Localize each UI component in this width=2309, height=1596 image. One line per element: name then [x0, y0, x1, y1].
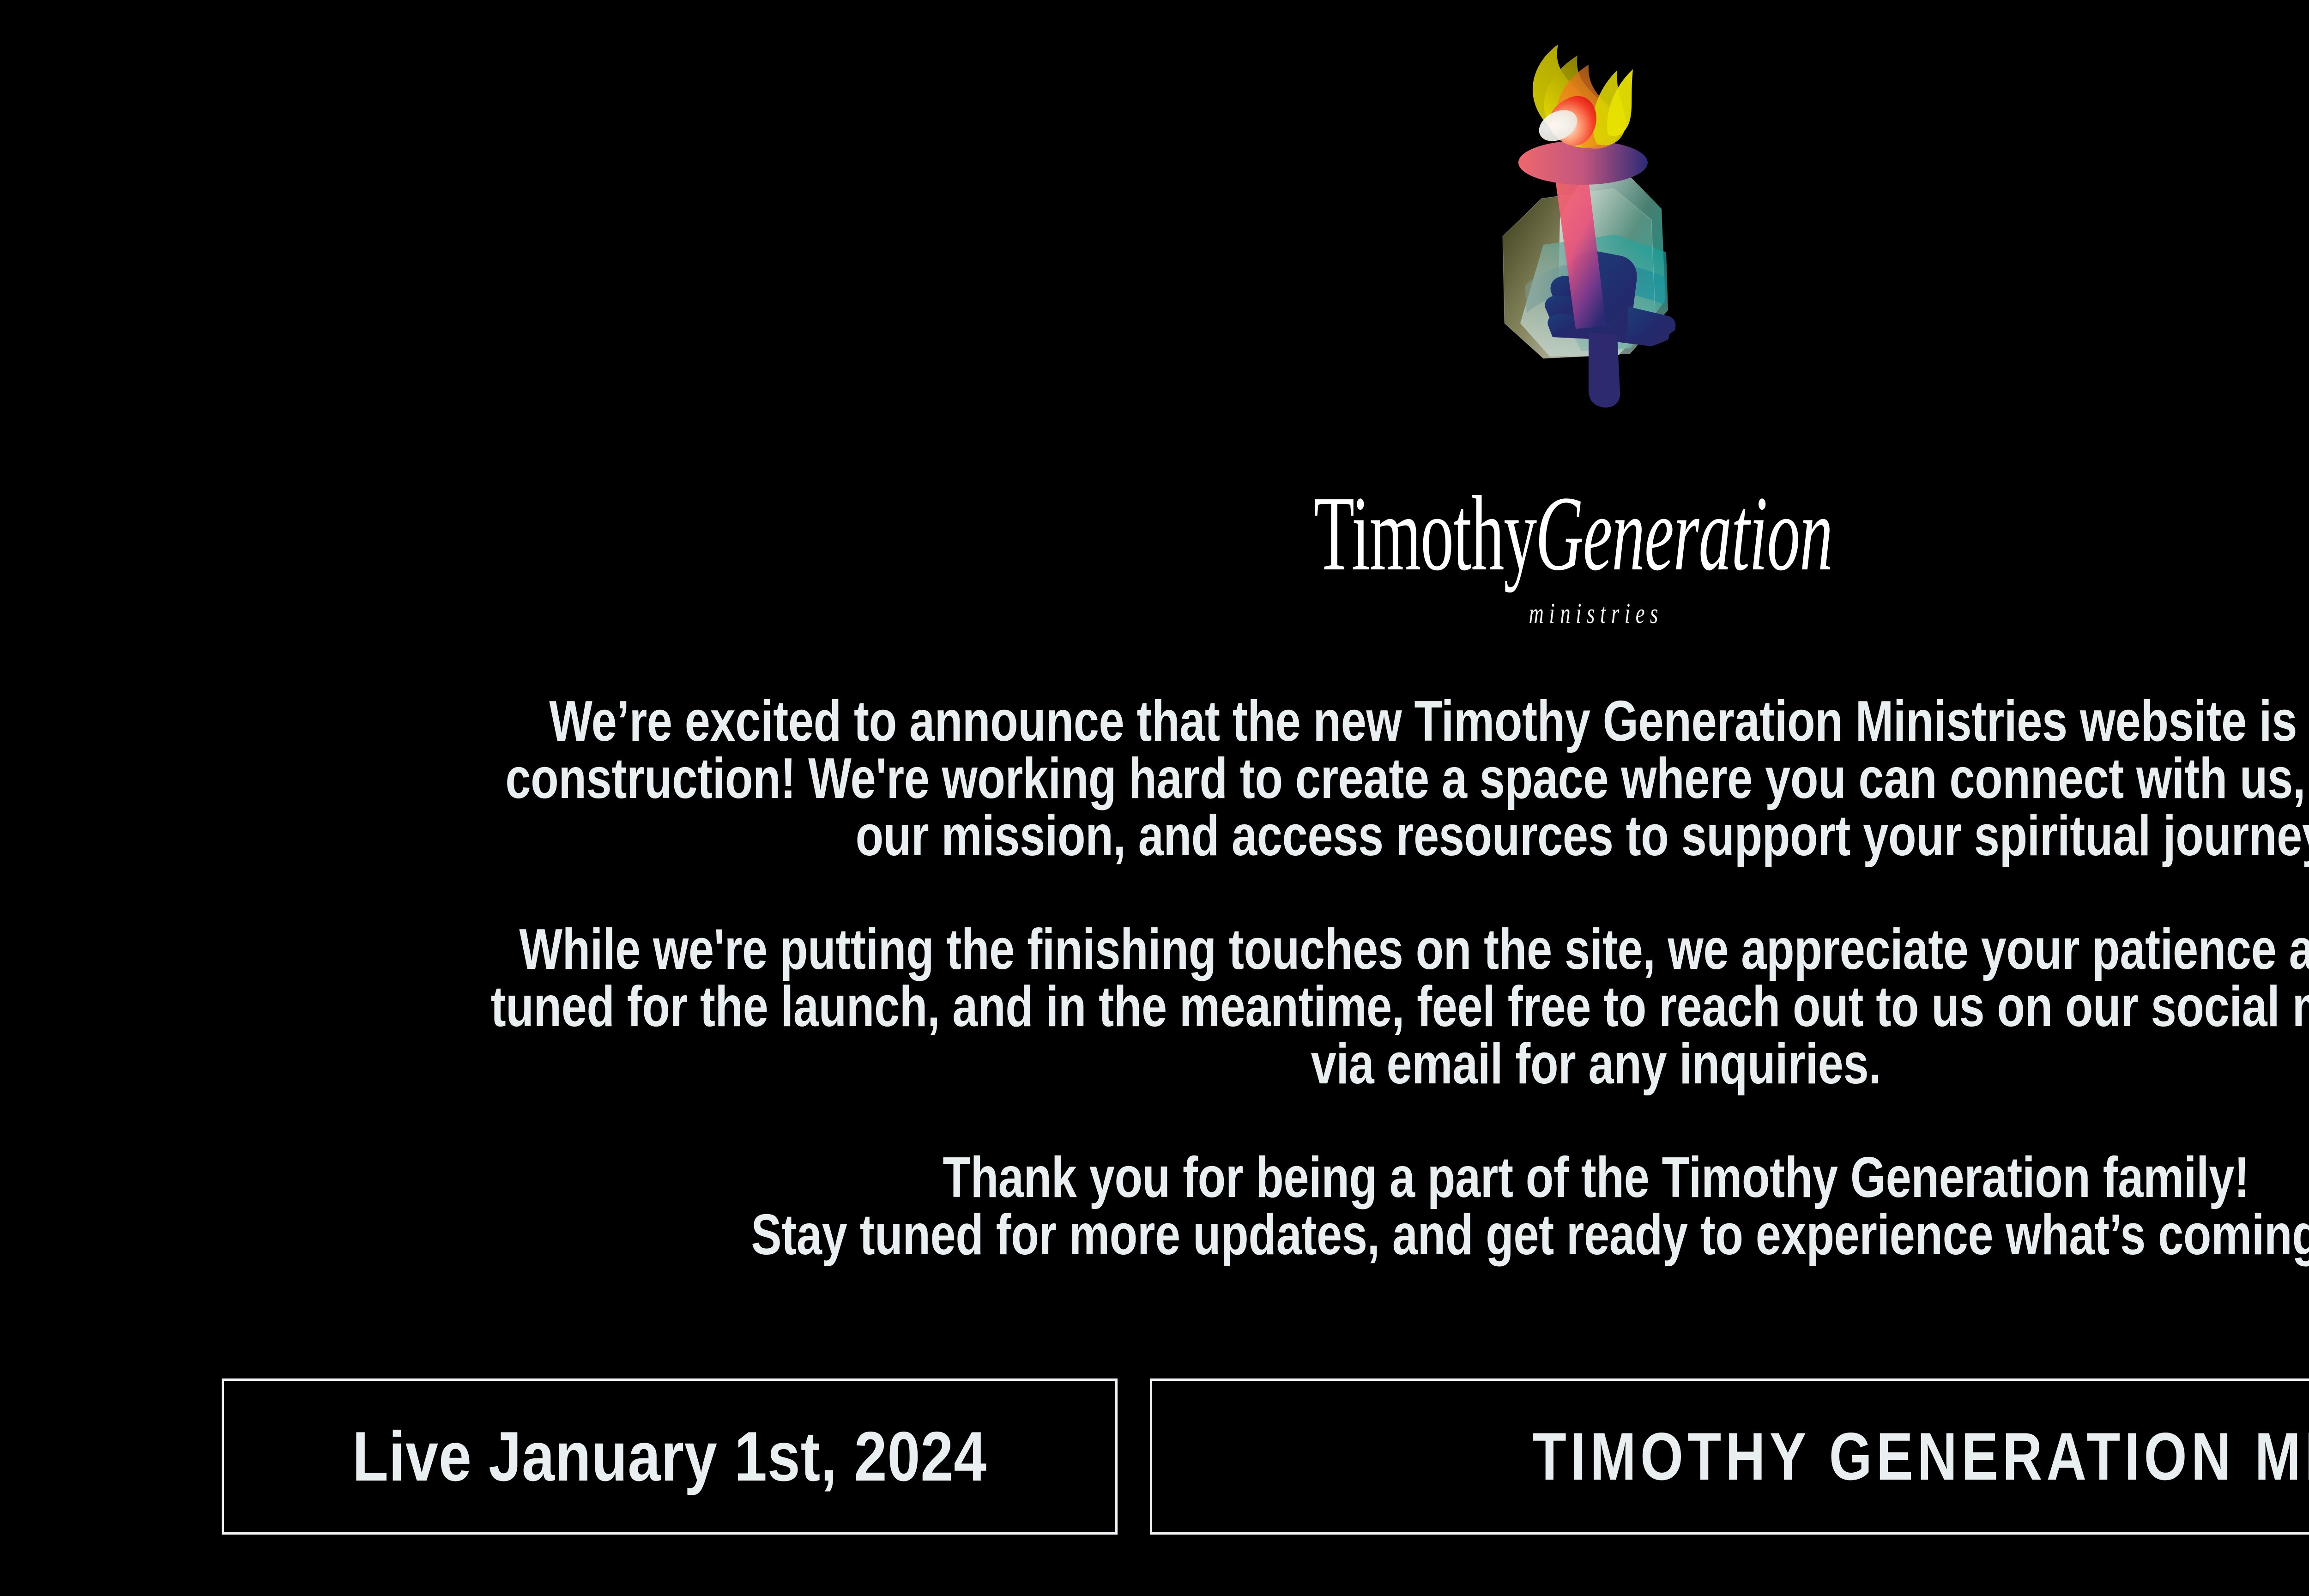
- flame-icon: [1533, 44, 1633, 149]
- paragraph-2: While we're putting the finishing touche…: [164, 921, 2309, 1093]
- logo-block: TimothyGeneration ministries: [0, 28, 2309, 628]
- paragraph-3-line-1: Thank you for being a part of the Timoth…: [164, 1149, 2309, 1206]
- logo-subtitle: ministries: [1529, 599, 1663, 628]
- paragraph-2-line-2: tuned for the launch, and in the meantim…: [164, 978, 2309, 1035]
- paragraph-1-line-2: construction! We're working hard to crea…: [164, 750, 2309, 807]
- announcement-copy: We’re excited to announce that the new T…: [164, 693, 2309, 1263]
- logo-wordmark-part2: Generation: [1535, 480, 1832, 587]
- announcement-page: TimothyGeneration ministries We’re excit…: [0, 0, 2309, 1596]
- logo-wordmark-part1: Timothy: [1314, 480, 1536, 587]
- logo-wordmark: TimothyGeneration: [1178, 479, 2014, 587]
- paragraph-2-line-1: While we're putting the finishing touche…: [164, 921, 2309, 978]
- footer-boxes: Live January 1st, 2024 TIMOTHY GENERATIO…: [222, 1378, 2309, 1535]
- organization-name-label: TIMOTHY GENERATION MINISTRIES: [1532, 1423, 2309, 1490]
- paragraph-3-line-2: Stay tuned for more updates, and get rea…: [164, 1206, 2309, 1263]
- torch-in-hand-logo-icon: [1434, 28, 1758, 471]
- paragraph-3: Thank you for being a part of the Timoth…: [164, 1149, 2309, 1263]
- paragraph-1-line-1: We’re excited to announce that the new T…: [164, 693, 2309, 750]
- organization-name-box[interactable]: TIMOTHY GENERATION MINISTRIES: [1150, 1378, 2309, 1535]
- launch-date-box[interactable]: Live January 1st, 2024: [222, 1378, 1118, 1535]
- paragraph-1: We’re excited to announce that the new T…: [164, 693, 2309, 864]
- paragraph-1-line-3: our mission, and access resources to sup…: [164, 807, 2309, 864]
- paragraph-2-line-3: via email for any inquiries.: [164, 1035, 2309, 1093]
- launch-date-label: Live January 1st, 2024: [352, 1421, 987, 1492]
